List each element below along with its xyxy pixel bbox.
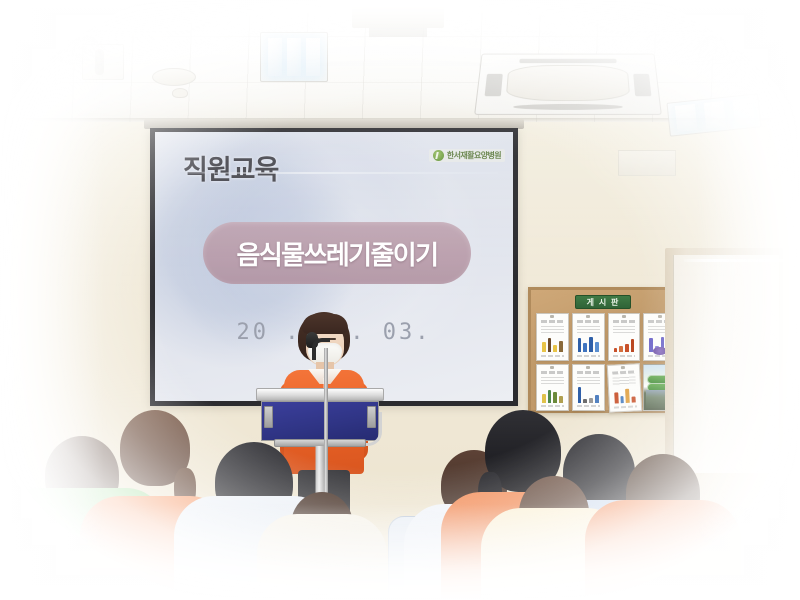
doc-text-lines [577,326,600,334]
doc-header-line [541,371,564,374]
hospital-logo: 한서재활요양병원 [429,149,505,162]
projector-mount [352,6,444,28]
ac-vane [485,74,503,97]
slide-title: 직원교육 [183,148,278,187]
doc-text-lines [612,376,635,385]
audience-torso [585,500,741,600]
doc-text-lines [541,326,564,334]
doc-footer-line [541,355,564,357]
notice-document [572,313,605,361]
ceiling-vent [618,150,676,176]
doc-footer-line [577,355,600,357]
presenter-fringe [302,314,348,334]
audience-torso [257,514,387,600]
door-top-highlight [684,259,784,262]
notice-document [536,313,569,361]
smoke-detector-icon [172,88,188,98]
doc-header-line [541,320,564,323]
doc-header-line [577,371,600,374]
audience-member [604,424,722,600]
photograph: 직원교육 한서재활요양병원 음식물쓰레기줄이기 20 . 07. 03. 게 시… [0,0,800,600]
bulletin-board: 게 시 판 [528,287,678,413]
ac-vane [633,74,651,97]
doc-header-line [613,320,636,323]
doc-footer-line [613,355,636,357]
ceiling-vent [82,44,124,80]
slide-heading-pill: 음식물쓰레기줄이기 [203,222,471,284]
doc-text-lines [577,377,600,385]
doc-text-lines [541,377,564,385]
ac-vane [520,59,617,63]
slide-title-underline [180,172,498,174]
bulletin-board-documents [536,313,676,411]
ceiling-speaker-icon [152,68,196,86]
notice-document [608,313,641,361]
logo-mark-icon [433,150,444,161]
fluorescent-light-fixture [260,32,328,82]
doc-header-line [577,320,600,323]
doc-bar-chart [578,336,599,352]
doc-bar-chart [542,336,563,352]
logo-text: 한서재활요양병원 [447,150,501,161]
ac-intake-grille [506,64,630,101]
doc-header-line [612,370,635,374]
bulletin-board-sign-label: 게 시 판 [587,297,620,308]
bulletin-board-sign: 게 시 판 [575,295,631,309]
audience [0,398,800,600]
doc-line-chart [614,336,635,352]
ceiling-air-conditioner-icon [474,54,662,115]
audience-member [268,440,376,600]
doc-text-lines [613,326,636,334]
ac-vane [513,104,624,110]
slide-main-heading: 음식물쓰레기줄이기 [237,235,438,272]
presenter-eye [329,338,336,340]
